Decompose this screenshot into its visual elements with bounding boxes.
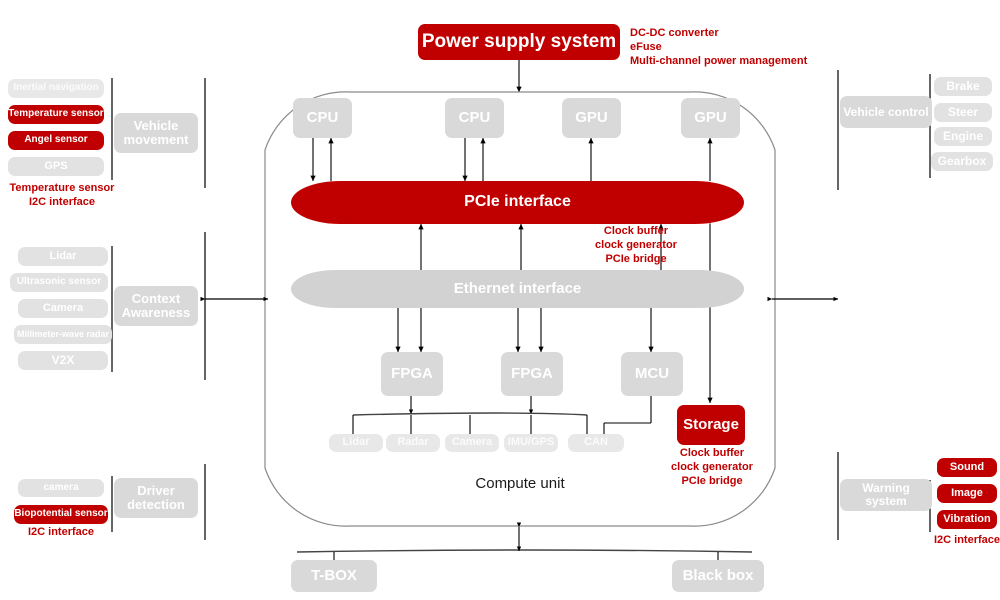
pcie-interface-bar[interactable]: PCIe interface [291, 181, 744, 224]
bottom-node-label: T-BOX [311, 568, 357, 584]
bottom-node-tbox[interactable]: T-BOX [291, 560, 377, 592]
item-label: Temperature sensor [8, 109, 103, 120]
pcie-notes: Clock buffer clock generator PCIe bridge [546, 225, 726, 266]
item-label: V2X [52, 354, 75, 367]
item-label: Lidar [50, 251, 77, 263]
right-item-gearbox[interactable]: Gearbox [931, 152, 993, 171]
accelerator-mcu[interactable]: MCU [621, 352, 683, 396]
right-group-warning-system[interactable]: Warning system [840, 479, 932, 511]
storage-label: Storage [683, 417, 739, 433]
left-item-driver-camera[interactable]: camera [18, 479, 104, 497]
item-label: Image [951, 488, 983, 500]
item-label: Vibration [943, 514, 990, 526]
accelerator-fpga-2[interactable]: FPGA [501, 352, 563, 396]
left-item-angel-sensor[interactable]: Angel sensor [8, 131, 104, 150]
item-label: GPS [44, 161, 67, 173]
peripheral-label: Lidar [343, 437, 370, 449]
compute-unit-caption: Compute unit [440, 475, 600, 492]
item-label: Steer [948, 106, 978, 119]
processor-label: GPU [694, 110, 727, 126]
left-group-context-awareness[interactable]: Context Awareness [114, 286, 198, 326]
left-item-gps[interactable]: GPS [8, 157, 104, 176]
left-item-temperature-sensor[interactable]: Temperature sensor [8, 105, 104, 124]
ethernet-interface-label: Ethernet interface [454, 281, 582, 297]
item-label: Camera [43, 303, 83, 315]
accelerator-label: FPGA [391, 366, 433, 382]
group-label: Vehicle control [843, 106, 928, 119]
item-label: Ultrasonic sensor [17, 277, 101, 288]
left-group-driver-detection[interactable]: Driver detection [114, 478, 198, 518]
peripheral-label: Radar [397, 437, 428, 449]
right-item-brake[interactable]: Brake [934, 77, 992, 96]
storage-box[interactable]: Storage [677, 405, 745, 445]
processor-cpu-1[interactable]: CPU [293, 98, 352, 138]
diagram-canvas: Power supply system DC-DC converter eFus… [0, 0, 1000, 600]
power-supply-box[interactable]: Power supply system [418, 24, 620, 60]
peripheral-camera[interactable]: Camera [445, 434, 499, 452]
accelerator-fpga-1[interactable]: FPGA [381, 352, 443, 396]
right-item-image[interactable]: Image [937, 484, 997, 503]
item-label: Millimeter-wave radar [17, 330, 109, 339]
right-item-steer[interactable]: Steer [934, 103, 992, 122]
item-label: Angel sensor [24, 135, 87, 146]
right-item-vibration[interactable]: Vibration [937, 510, 997, 529]
ethernet-interface-bar[interactable]: Ethernet interface [291, 270, 744, 308]
group-label: Context Awareness [114, 292, 198, 319]
peripheral-can[interactable]: CAN [568, 434, 624, 452]
processor-gpu-2[interactable]: GPU [681, 98, 740, 138]
bottom-node-black-box[interactable]: Black box [672, 560, 764, 592]
item-label: Sound [950, 462, 984, 474]
left-item-ultrasonic-sensor[interactable]: Ultrasonic sensor [10, 273, 108, 292]
processor-label: CPU [307, 110, 339, 126]
peripheral-label: IMU/GPS [508, 437, 554, 449]
power-supply-label: Power supply system [422, 32, 616, 52]
left-item-biopotential-sensor[interactable]: Biopotential sensor [14, 505, 108, 524]
item-label: Engine [943, 130, 983, 143]
left-item-lidar[interactable]: Lidar [18, 247, 108, 266]
group-label: Vehicle movement [114, 119, 198, 146]
right-item-engine[interactable]: Engine [934, 127, 992, 146]
peripheral-label: Camera [452, 437, 492, 449]
processor-cpu-2[interactable]: CPU [445, 98, 504, 138]
left-group-driver-detection-note: I2C interface [8, 526, 114, 540]
processor-gpu-1[interactable]: GPU [562, 98, 621, 138]
group-label: Driver detection [114, 484, 198, 511]
accelerator-label: MCU [635, 366, 669, 382]
group-label: Warning system [840, 482, 932, 507]
left-group-vehicle-movement[interactable]: Vehicle movement [114, 113, 198, 153]
peripheral-lidar[interactable]: Lidar [329, 434, 383, 452]
storage-notes: Clock buffer clock generator PCIe bridge [658, 447, 766, 488]
left-group-vehicle-movement-note: Temperature sensor I2C interface [2, 182, 122, 210]
left-item-v2x[interactable]: V2X [18, 351, 108, 370]
peripheral-radar[interactable]: Radar [386, 434, 440, 452]
peripheral-imu-gps[interactable]: IMU/GPS [504, 434, 558, 452]
peripheral-label: CAN [584, 437, 608, 449]
left-item-camera[interactable]: Camera [18, 299, 108, 318]
item-label: Inertial navigation [13, 83, 99, 94]
processor-label: GPU [575, 110, 608, 126]
power-supply-notes: DC-DC converter eFuse Multi-channel powe… [630, 27, 880, 68]
right-item-sound[interactable]: Sound [937, 458, 997, 477]
accelerator-label: FPGA [511, 366, 553, 382]
item-label: Biopotential sensor [14, 509, 107, 520]
left-item-inertial-navigation[interactable]: Inertial navigation [8, 79, 104, 98]
processor-label: CPU [459, 110, 491, 126]
item-label: Brake [946, 80, 979, 93]
right-group-vehicle-control[interactable]: Vehicle control [840, 96, 932, 128]
right-group-warning-system-note: I2C interface [922, 534, 1000, 548]
pcie-interface-label: PCIe interface [464, 194, 571, 211]
item-label: Gearbox [938, 155, 987, 168]
bottom-node-label: Black box [683, 568, 754, 584]
left-item-millimeter-wave-radar[interactable]: Millimeter-wave radar [14, 325, 112, 344]
item-label: camera [43, 483, 78, 494]
